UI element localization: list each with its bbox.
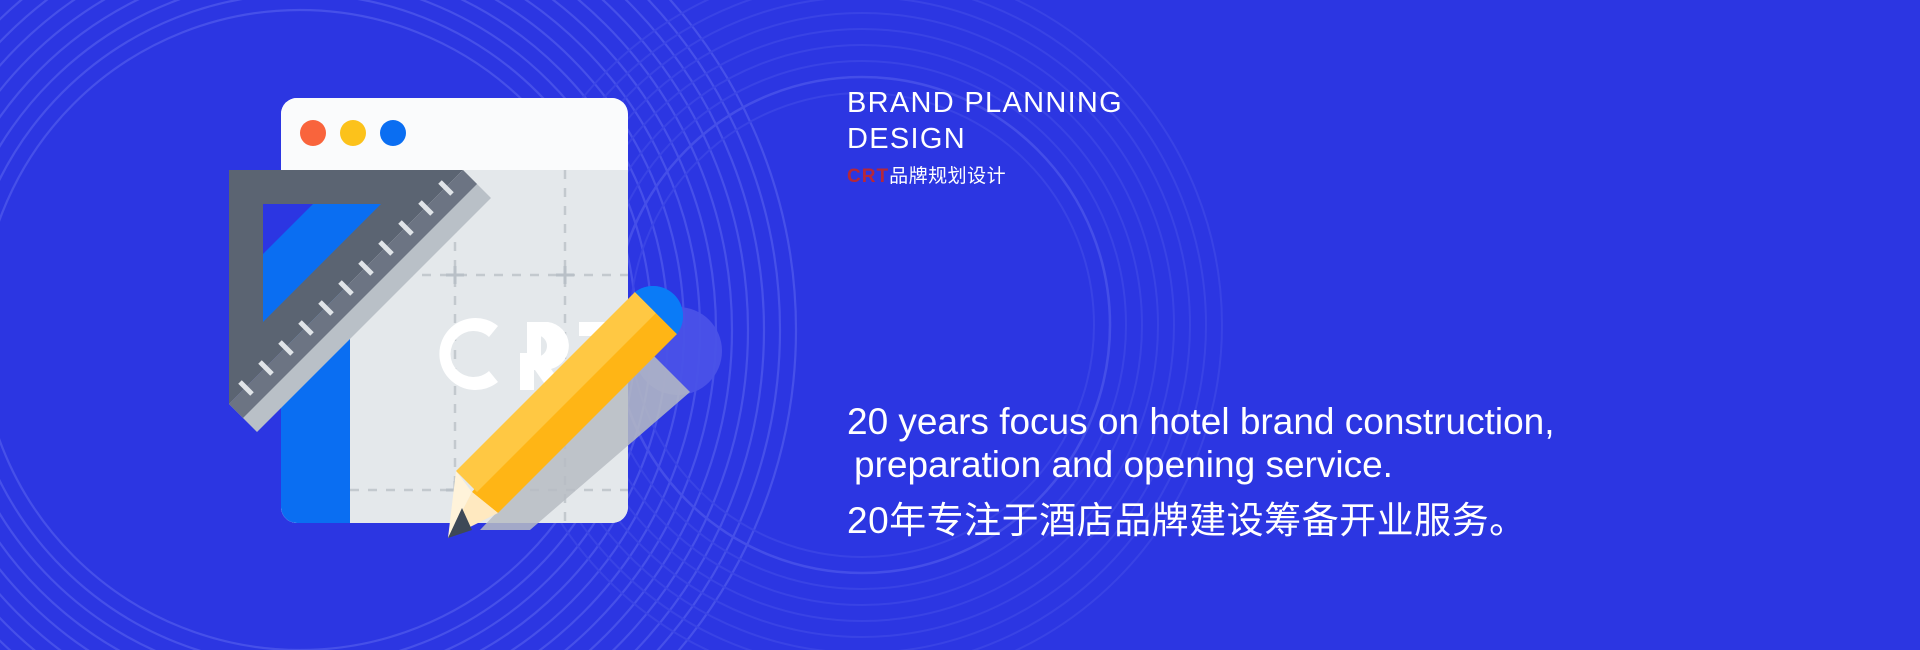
text-column: BRAND PLANNING DESIGN CRT品牌规划设计 20 years… — [847, 0, 1887, 650]
close-dot[interactable] — [300, 120, 326, 146]
heading-group: BRAND PLANNING DESIGN CRT品牌规划设计 — [847, 85, 1123, 189]
illustration-svg — [180, 60, 740, 580]
brand-banner: BRAND PLANNING DESIGN CRT品牌规划设计 20 years… — [0, 0, 1920, 650]
tagline-en-line-2: preparation and opening service. — [847, 443, 1555, 486]
tagline-group: 20 years focus on hotel brand constructi… — [847, 400, 1555, 543]
heading-line-1: BRAND PLANNING — [847, 85, 1123, 121]
subheading: CRT品牌规划设计 — [847, 165, 1123, 189]
heading-line-2: DESIGN — [847, 121, 1123, 157]
subheading-cn: 品牌规划设计 — [889, 166, 1006, 187]
maximize-dot[interactable] — [380, 120, 406, 146]
brand-name: CRT — [847, 166, 889, 187]
tagline-en-line-1: 20 years focus on hotel brand constructi… — [847, 400, 1555, 443]
minimize-dot[interactable] — [340, 120, 366, 146]
window-titlebar — [281, 98, 627, 170]
hero-illustration — [180, 60, 740, 580]
tagline-cn: 20年专注于酒店品牌建设筹备开业服务。 — [847, 499, 1555, 543]
